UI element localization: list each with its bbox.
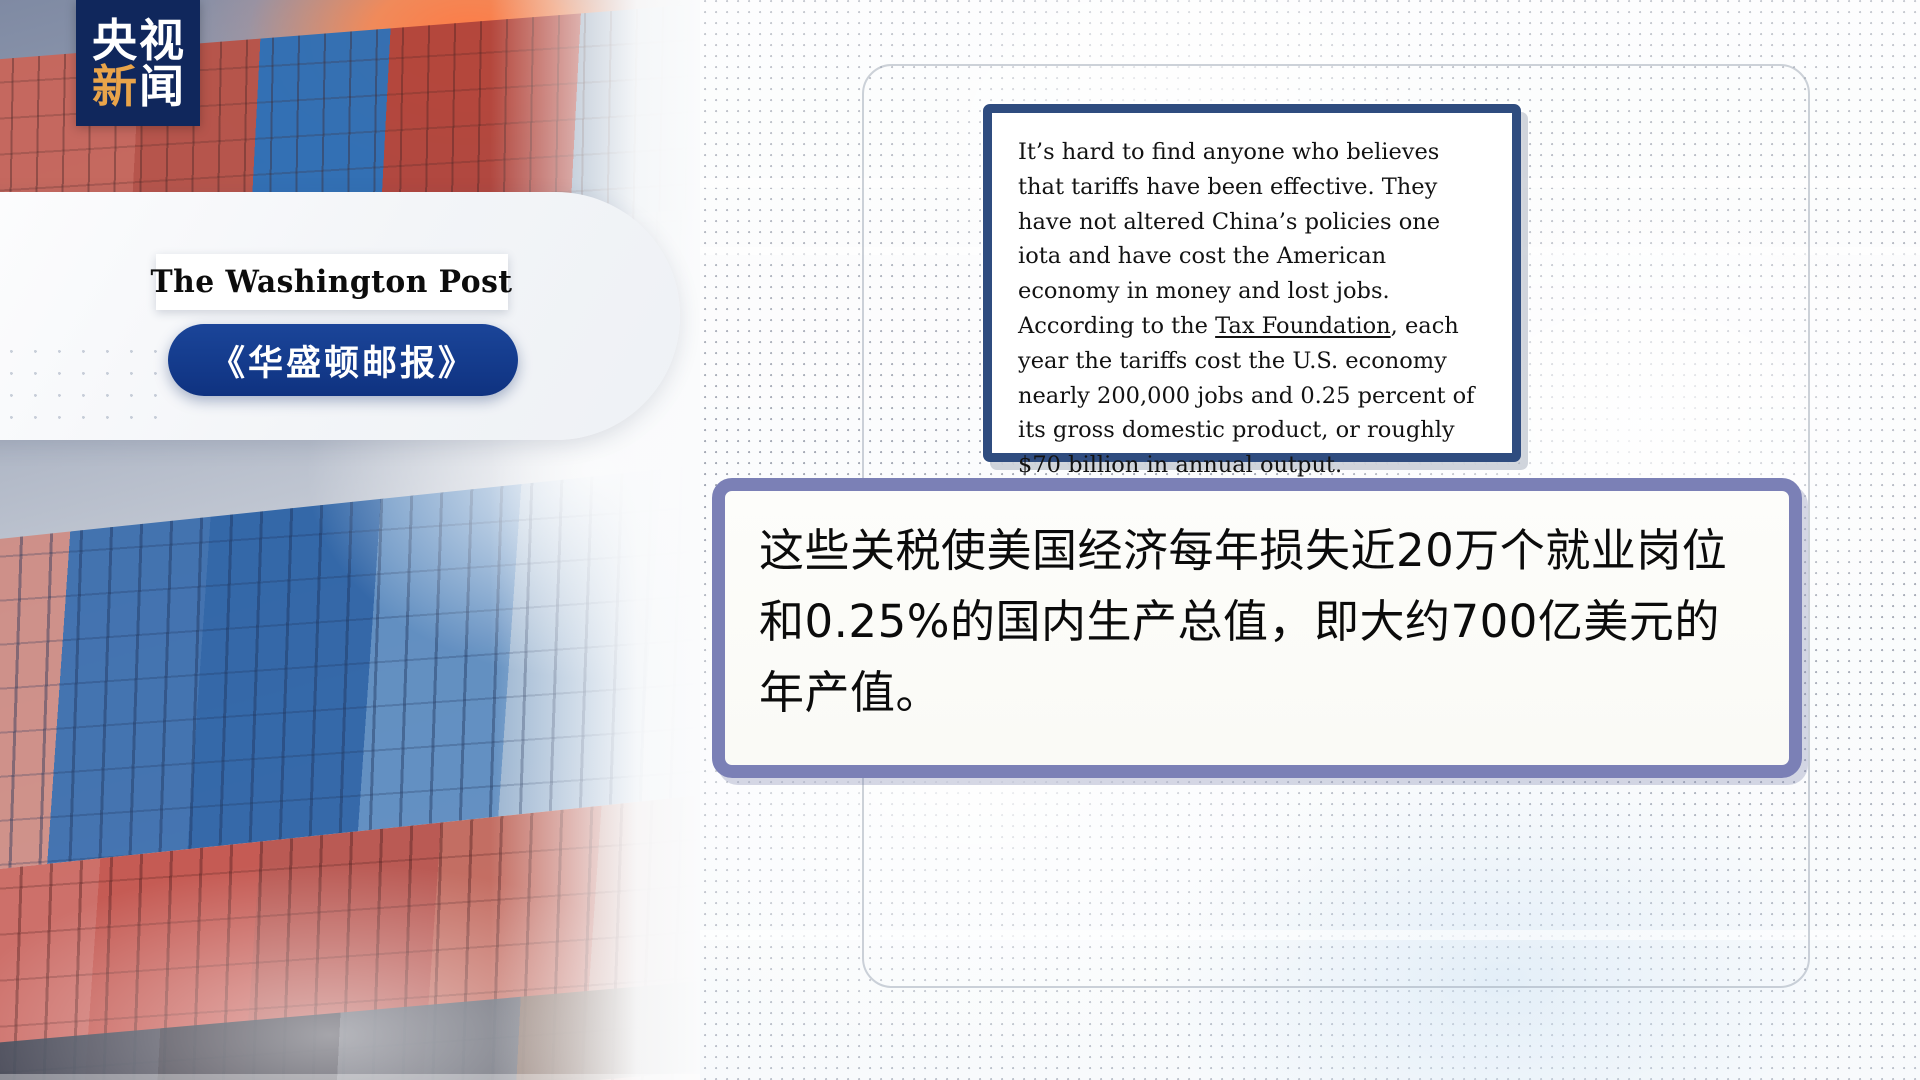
chinese-translation-text: 这些关税使美国经济每年损失近20万个就业岗位和0.25%的国内生产总值，即大约7… [725,491,1789,728]
logo-char-shi: 视 [139,18,184,63]
logo-char-xin: 新 [92,64,137,109]
chinese-translation-card: 这些关税使美国经济每年损失近20万个就业岗位和0.25%的国内生产总值，即大约7… [712,478,1802,778]
logo-char-wen: 闻 [139,64,184,109]
logo-line-two: 新 闻 [92,64,184,109]
logo-line-one: 央 视 [92,18,184,63]
photo-right-fade [490,0,700,1080]
cctv-news-logo: 央 视 新 闻 [76,0,200,126]
logo-char-yang: 央 [92,18,137,63]
photo-bottom-edge [0,1074,700,1080]
english-quote-card: It’s hard to find anyone who believes th… [983,104,1521,462]
screenshot-canvas: 央 视 新 闻 The Washington Post 《华盛顿邮报》 It’s… [0,0,1920,1080]
shipping-container-photo [0,0,700,1080]
tax-foundation-link[interactable]: Tax Foundation [1215,313,1391,339]
washington-post-masthead: The Washington Post [151,264,513,300]
english-quote-part-one: It’s hard to find anyone who believes th… [1018,139,1440,339]
panel-dot-decoration [10,350,170,422]
source-name-pill: 《华盛顿邮报》 [168,324,518,396]
source-name-chinese: 《华盛顿邮报》 [210,335,476,386]
source-branding-panel: The Washington Post 《华盛顿邮报》 [0,192,680,440]
english-quote-text: It’s hard to find anyone who believes th… [992,113,1512,483]
washington-post-masthead-bar: The Washington Post [156,254,508,310]
